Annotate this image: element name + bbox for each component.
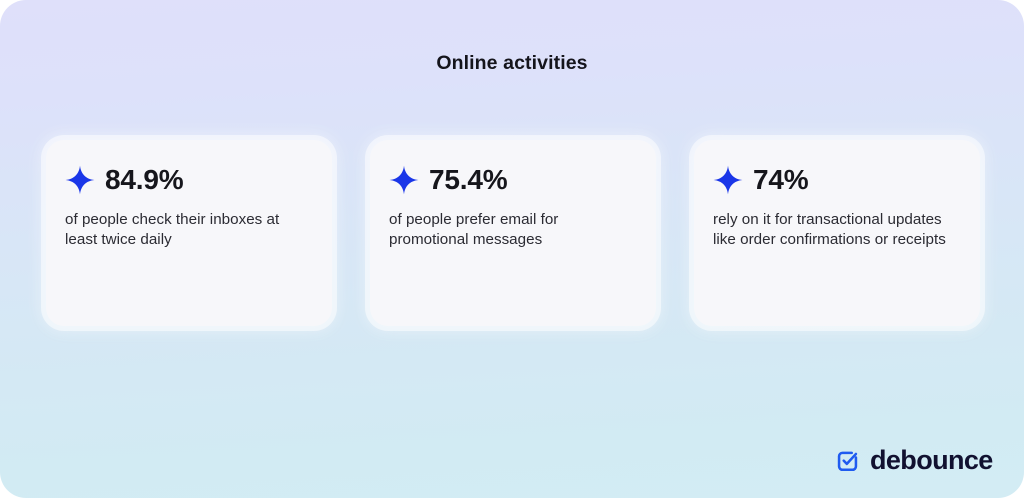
stat-card-header: 75.4%	[389, 160, 637, 200]
stat-cards-row: 84.9% of people check their inboxes at l…	[46, 140, 980, 326]
stat-card: 84.9% of people check their inboxes at l…	[46, 140, 332, 326]
stat-description: rely on it for transactional updates lik…	[713, 210, 953, 250]
stat-card: 75.4% of people prefer email for promoti…	[370, 140, 656, 326]
brand-name: debounce	[870, 447, 993, 474]
sparkle-icon	[713, 165, 743, 195]
page-title: Online activities	[0, 52, 1024, 75]
stat-card-header: 84.9%	[65, 160, 313, 200]
sparkle-icon	[389, 165, 419, 195]
sparkle-icon	[65, 165, 95, 195]
stat-description: of people check their inboxes at least t…	[65, 210, 305, 250]
stat-value: 74%	[753, 166, 808, 194]
checkmark-square-icon	[834, 447, 861, 474]
stat-card-header: 74%	[713, 160, 961, 200]
brand-logo: debounce	[834, 444, 993, 476]
stat-description: of people prefer email for promotional m…	[389, 210, 629, 250]
stat-card: 74% rely on it for transactional updates…	[694, 140, 980, 326]
stat-value: 84.9%	[105, 166, 183, 194]
stat-value: 75.4%	[429, 166, 507, 194]
infographic-canvas: Online activities 84.9% of people check …	[0, 0, 1024, 498]
